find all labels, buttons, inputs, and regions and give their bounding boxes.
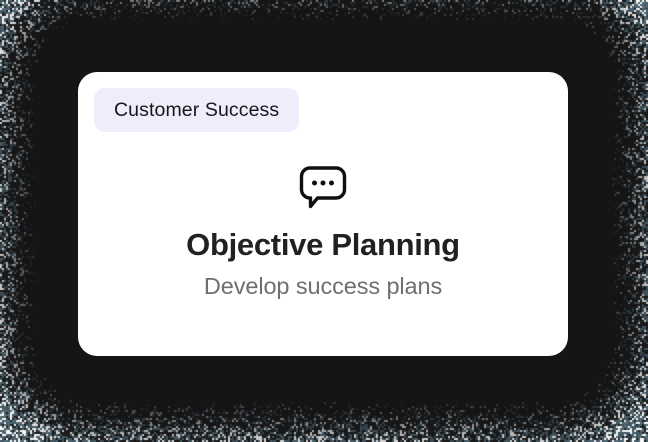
content-card: Customer Success Objective Planning Deve… [78,72,568,356]
card-body: Objective Planning Develop success plans [78,164,568,300]
card-subtitle: Develop success plans [204,274,442,300]
chat-bubble-dots-icon [298,164,348,210]
screenshot-canvas: Customer Success Objective Planning Deve… [0,0,648,442]
status-badge: Customer Success [94,88,299,132]
status-badge-label: Customer Success [114,99,279,122]
page-title: Objective Planning [186,228,460,262]
